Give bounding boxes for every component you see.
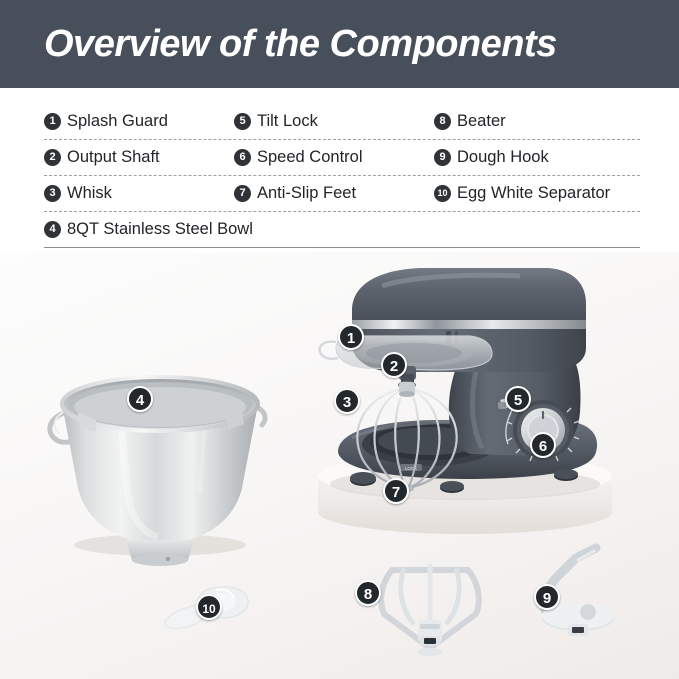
callout-badge-3: 3 <box>334 388 360 414</box>
product-photo-scene: LOCK AUCMA <box>0 252 679 679</box>
legend-label-6: Speed Control <box>257 148 363 167</box>
legend-row: 4 8QT Stainless Steel Bowl <box>44 212 640 248</box>
callout-badge-5: 5 <box>505 386 531 412</box>
legend-item-8: 8 Beater <box>434 104 640 139</box>
legend-badge-9: 9 <box>434 149 451 166</box>
callout-badge-6: 6 <box>530 432 556 458</box>
legend-badge-2: 2 <box>44 149 61 166</box>
legend-badge-7: 7 <box>234 185 251 202</box>
legend-item-4: 4 8QT Stainless Steel Bowl <box>44 212 640 247</box>
legend-label-7: Anti-Slip Feet <box>257 184 356 203</box>
page-title: Overview of the Components <box>44 23 557 66</box>
legend-row: 3 Whisk 7 Anti-Slip Feet 10 Egg White Se… <box>44 176 640 212</box>
component-legend: 1 Splash Guard 5 Tilt Lock 8 Beater 2 Ou… <box>44 104 640 248</box>
callout-badge-10: 10 <box>196 594 222 620</box>
legend-item-3: 3 Whisk <box>44 176 234 211</box>
legend-label-3: Whisk <box>67 184 112 203</box>
legend-row: 2 Output Shaft 6 Speed Control 9 Dough H… <box>44 140 640 176</box>
legend-badge-3: 3 <box>44 185 61 202</box>
legend-item-1: 1 Splash Guard <box>44 104 234 139</box>
callout-badge-2: 2 <box>381 352 407 378</box>
legend-badge-6: 6 <box>234 149 251 166</box>
callout-badge-4: 4 <box>127 386 153 412</box>
legend-label-1: Splash Guard <box>67 112 168 131</box>
legend-item-7: 7 Anti-Slip Feet <box>234 176 434 211</box>
legend-row: 1 Splash Guard 5 Tilt Lock 8 Beater <box>44 104 640 140</box>
legend-badge-10: 10 <box>434 185 451 202</box>
legend-badge-5: 5 <box>234 113 251 130</box>
legend-badge-1: 1 <box>44 113 61 130</box>
legend-item-5: 5 Tilt Lock <box>234 104 434 139</box>
legend-label-10: Egg White Separator <box>457 184 610 203</box>
header-banner: Overview of the Components <box>0 0 679 88</box>
callout-badge-8: 8 <box>355 580 381 606</box>
legend-label-4: 8QT Stainless Steel Bowl <box>67 220 253 239</box>
infographic-page: Overview of the Components 1 Splash Guar… <box>0 0 679 679</box>
legend-badge-4: 4 <box>44 221 61 238</box>
callout-badge-9: 9 <box>534 584 560 610</box>
legend-label-9: Dough Hook <box>457 148 549 167</box>
legend-label-5: Tilt Lock <box>257 112 318 131</box>
legend-item-2: 2 Output Shaft <box>44 140 234 175</box>
legend-item-9: 9 Dough Hook <box>434 140 640 175</box>
beater-accessory <box>381 564 479 656</box>
legend-label-2: Output Shaft <box>67 148 160 167</box>
legend-item-10: 10 Egg White Separator <box>434 176 640 211</box>
callout-badge-1: 1 <box>338 324 364 350</box>
legend-item-6: 6 Speed Control <box>234 140 434 175</box>
legend-label-8: Beater <box>457 112 506 131</box>
callout-badge-7: 7 <box>383 478 409 504</box>
stand-mixer-illustration: LOCK AUCMA <box>0 252 679 679</box>
legend-badge-8: 8 <box>434 113 451 130</box>
